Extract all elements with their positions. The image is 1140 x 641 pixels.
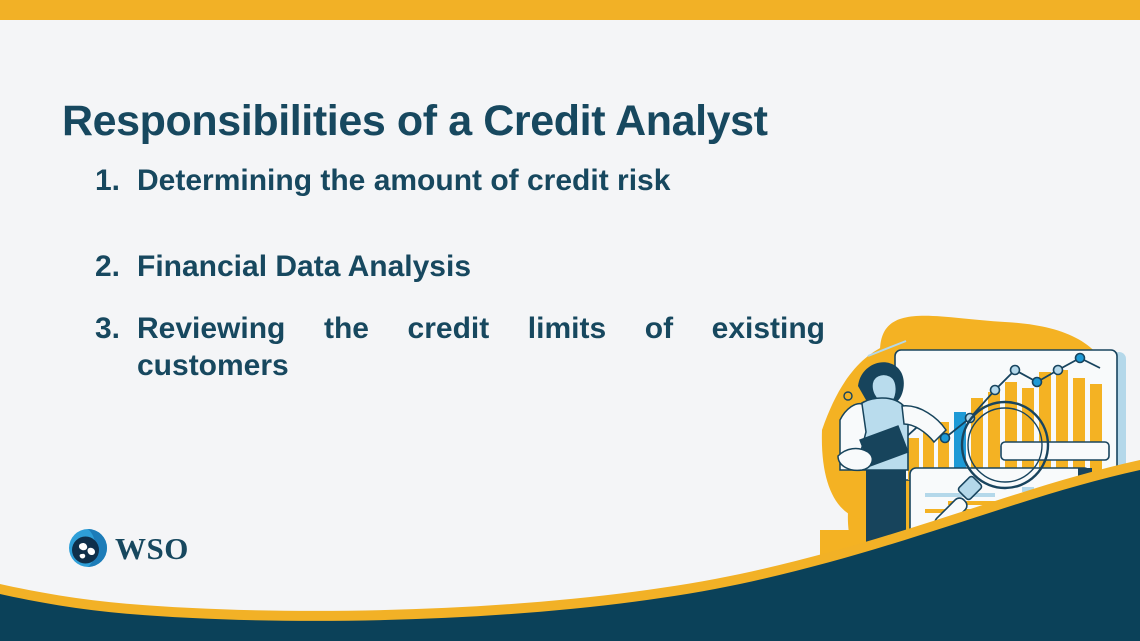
globe-icon	[68, 528, 108, 568]
responsibilities-list: 1. Determining the amount of credit risk…	[95, 163, 825, 421]
wso-logo-text: WSO	[115, 533, 189, 564]
illustration-line-point	[1054, 366, 1063, 375]
list-item: 1. Determining the amount of credit risk	[95, 163, 825, 200]
list-item-text: Determining the amount of credit risk	[137, 163, 825, 200]
list-item-number: 1.	[95, 163, 137, 200]
wso-logo[interactable]: WSO	[68, 528, 189, 568]
illustration-search-field	[1001, 442, 1109, 460]
illustration-bar	[1056, 370, 1068, 480]
list-item-text: Reviewing the credit limits of existing …	[137, 311, 825, 421]
illustration-bar	[1005, 382, 1017, 480]
illustration-text-line	[925, 493, 995, 497]
slide-root: Responsibilities of a Credit Analyst 1. …	[0, 0, 1140, 641]
illustration-bar	[1090, 384, 1102, 480]
illustration-line-point	[1011, 366, 1020, 375]
illustration-line-point	[1033, 378, 1042, 387]
list-item: 2. Financial Data Analysis	[95, 249, 825, 286]
list-item: 3. Reviewing the credit limits of existi…	[95, 311, 825, 421]
top-accent-bar	[0, 0, 1140, 20]
illustration-bar	[1022, 388, 1034, 480]
illustration-bar	[1073, 378, 1085, 480]
list-item-number: 3.	[95, 311, 137, 348]
illustration-line-point	[991, 386, 1000, 395]
page-title: Responsibilities of a Credit Analyst	[62, 97, 962, 145]
list-item-number: 2.	[95, 249, 137, 286]
illustration-line-point	[1076, 354, 1085, 363]
list-item-text: Financial Data Analysis	[137, 249, 825, 286]
